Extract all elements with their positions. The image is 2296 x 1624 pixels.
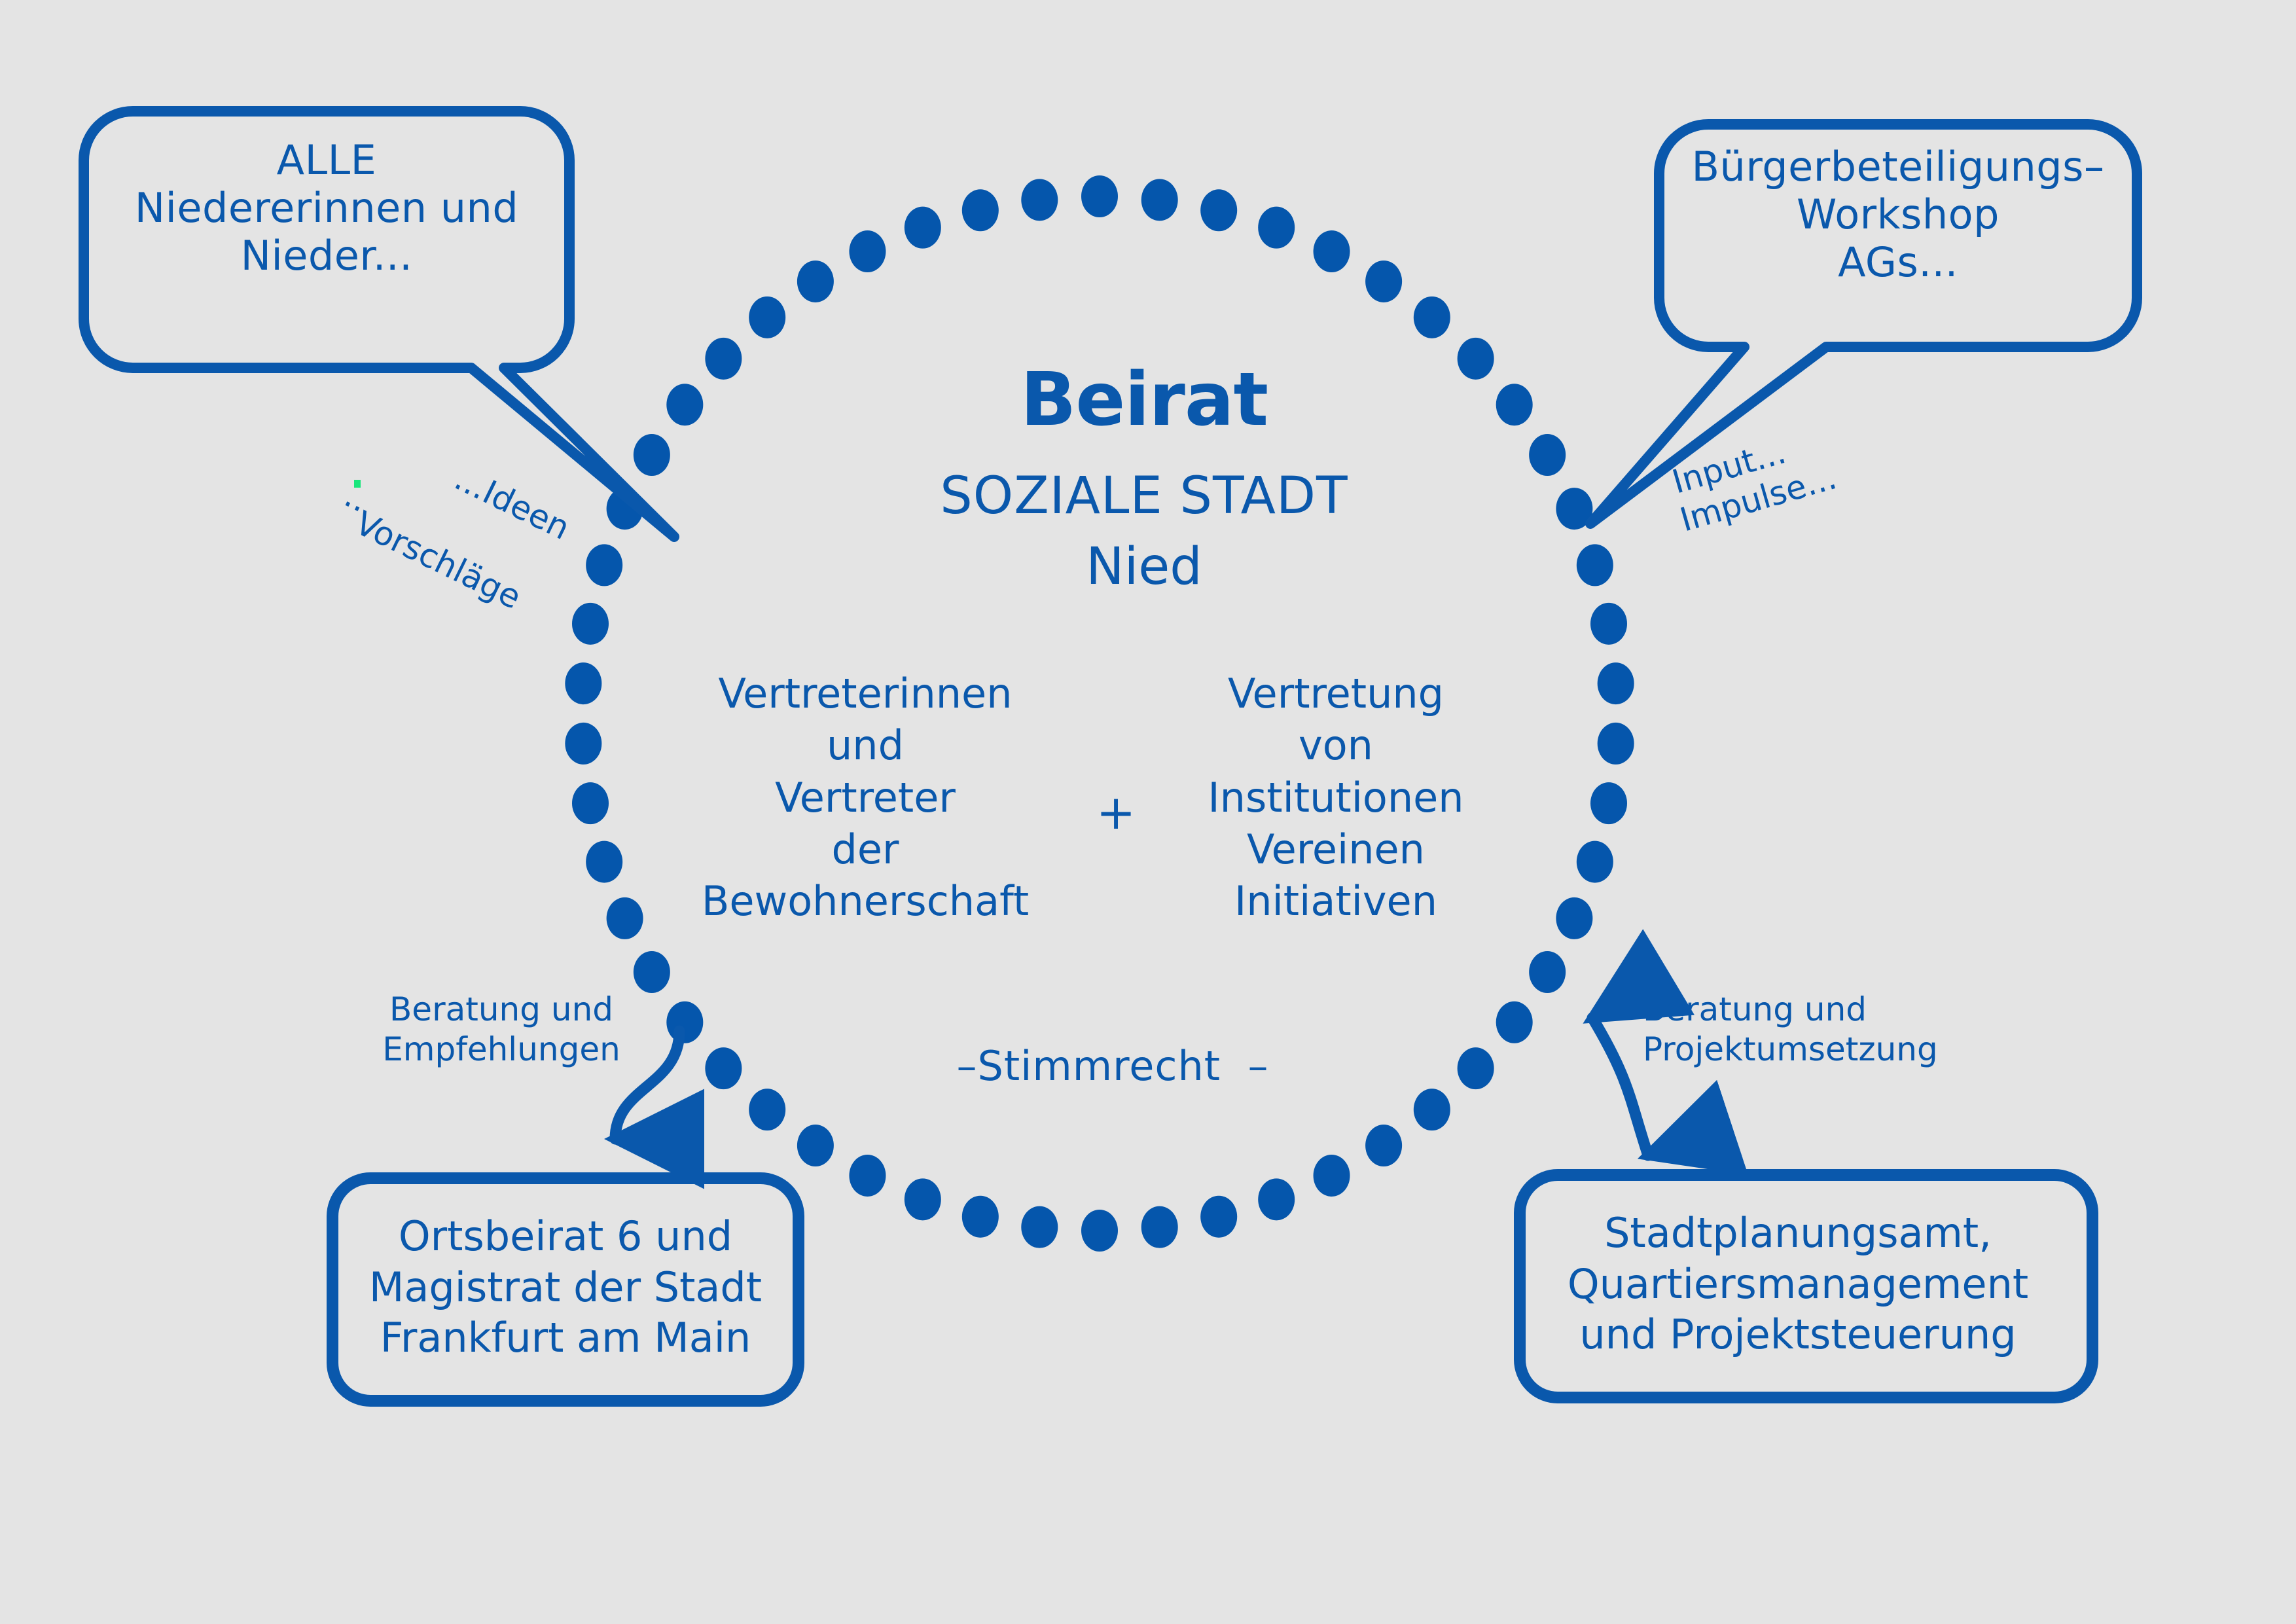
box-ortsbeirat-label: Ortsbeirat 6 und Magistrat der Stadt Fra… [332, 1211, 798, 1363]
center-column-right: Vertretung von Institutionen Vereinen In… [1195, 668, 1477, 928]
ring-dot [962, 189, 999, 231]
ring-dot [1414, 297, 1450, 338]
ring-dot [1258, 207, 1295, 249]
ring-dot [634, 434, 670, 476]
ring-dot [1081, 175, 1118, 217]
ring-dot [849, 1155, 886, 1197]
ring-dot [586, 841, 622, 883]
ring-dot [1200, 189, 1237, 231]
center-column-left: Vertreterinnen und Vertreter der Bewohne… [695, 668, 1035, 928]
center-footnote-stimmrecht: –Stimmrecht – [929, 1042, 1296, 1090]
center-subtitle-line1: SOZIALE STADT [843, 466, 1445, 526]
ring-dot [1529, 434, 1566, 476]
ring-dot [1598, 662, 1634, 704]
center-plus-operator: + [1080, 782, 1152, 842]
ring-dot [1590, 782, 1627, 824]
ring-dot [1021, 179, 1058, 221]
arrow-label-beratung-empfehlungen: Beratung und Empfehlungen [364, 990, 639, 1070]
ring-dot [705, 1047, 742, 1089]
ring-dot [1458, 1047, 1494, 1089]
ring-dot [572, 782, 609, 824]
ring-dot [1081, 1210, 1118, 1252]
ring-dot [1590, 603, 1627, 645]
ring-dot [586, 544, 622, 586]
ring-dot [572, 603, 609, 645]
ring-dot [1141, 1206, 1178, 1248]
ring-dot [666, 384, 703, 425]
ring-dot [1496, 384, 1533, 425]
ring-dot [1577, 841, 1613, 883]
ring-dot [666, 1001, 703, 1043]
ring-dot [905, 1178, 941, 1220]
ring-dot [607, 897, 643, 939]
arrow-beratung-projektumsetzung [1592, 1018, 1648, 1155]
center-title: Beirat [843, 357, 1445, 443]
diagram-canvas: ALLE Niedererinnen und Nieder... Bürgerb… [0, 0, 2296, 1624]
ring-dot [1365, 261, 1402, 302]
ring-dot [749, 1089, 785, 1130]
ring-dot [797, 261, 834, 302]
arrow-label-beratung-projektumsetzung: Beratung und Projektumsetzung [1643, 990, 1970, 1070]
ring-dot [1365, 1125, 1402, 1166]
ring-dot [705, 338, 742, 380]
speech-bubble-left-label: ALLE Niedererinnen und Nieder... [84, 136, 569, 280]
ring-dot [1314, 1155, 1350, 1197]
ring-dot [849, 230, 886, 272]
ring-dot [1200, 1196, 1237, 1238]
ring-dot [1577, 544, 1613, 586]
ring-dot [1529, 951, 1566, 993]
ring-dot [1458, 338, 1494, 380]
ring-dot [962, 1196, 999, 1238]
ring-dot [1314, 230, 1350, 272]
ring-dot [565, 662, 601, 704]
ring-dot [1556, 897, 1592, 939]
ring-dot [1021, 1206, 1058, 1248]
ring-dot [1414, 1089, 1450, 1130]
ring-dot [905, 207, 941, 249]
speech-bubble-right-label: Bürgerbeteiligungs– Workshop AGs... [1659, 143, 2137, 286]
ring-dot [565, 723, 601, 765]
green-speck-marker [354, 480, 361, 488]
box-stadtplanungsamt-label: Stadtplanungsamt, Quartiersmanagement un… [1520, 1208, 2076, 1360]
ring-dot [1496, 1001, 1533, 1043]
ring-dot [797, 1125, 834, 1166]
ring-dot [1141, 179, 1178, 221]
ring-dot [634, 951, 670, 993]
ring-dot [749, 297, 785, 338]
ring-dot [1258, 1178, 1295, 1220]
ring-dot [1598, 723, 1634, 765]
center-subtitle-line2: Nied [843, 537, 1445, 597]
